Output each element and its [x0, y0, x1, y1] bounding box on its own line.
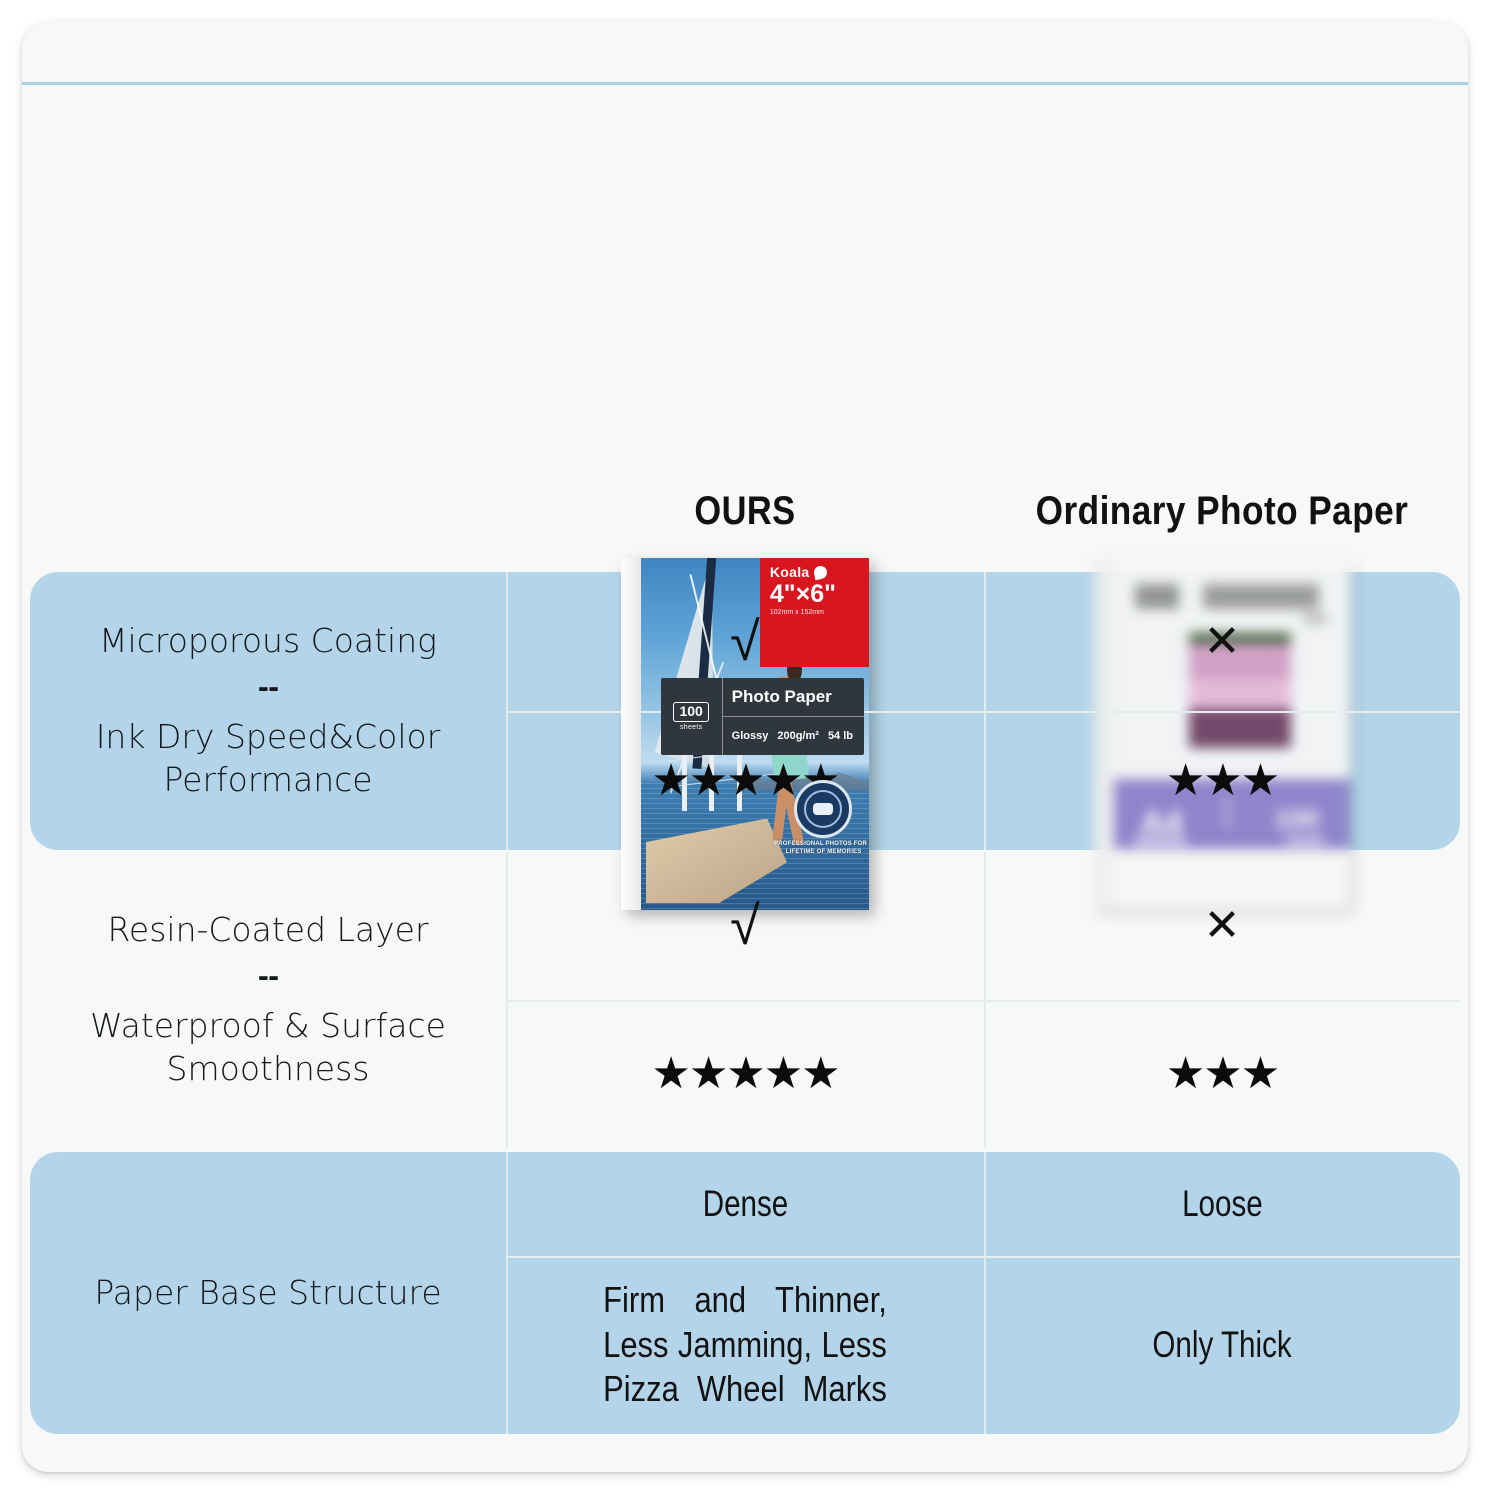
seal-core — [813, 803, 833, 815]
feature-separator: -- — [258, 673, 278, 704]
comparison-card: Koala 4"×6" 102mm x 152mm 100 sheets — [22, 22, 1468, 1472]
feature-label-text: Paper Base Structure — [30, 1152, 506, 1434]
product-specs: Glossy 200g/m² 54 lb — [723, 717, 864, 755]
package-size: 4"×6" — [770, 582, 861, 607]
column-divider-1 — [506, 1152, 508, 1434]
checkmark-icon: √ — [730, 899, 760, 953]
cross-icon: ✕ — [1204, 620, 1241, 664]
seal-inner-ring — [804, 790, 842, 828]
sub-row-divider — [506, 1000, 1460, 1002]
sheets-count: 100 — [673, 702, 708, 722]
gsm-spec: 200g/m² — [777, 730, 819, 742]
sub-row-divider — [506, 1256, 1460, 1258]
star-rating-icon: ★★★ — [1166, 759, 1278, 803]
cell-other-cross: ✕ — [984, 852, 1460, 1000]
density-value: Loose — [1182, 1181, 1263, 1226]
feature-line-2: Waterproof & Surface — [90, 1005, 446, 1048]
feature-line-3: Smoothness — [167, 1048, 370, 1091]
column-divider-2 — [984, 1152, 986, 1434]
row-ours-paper-base: Dense Firm and Thinner, Less Jamming, Le… — [506, 1152, 984, 1434]
feature-line-1: Paper Base Structure — [94, 1272, 441, 1315]
package-spine — [621, 558, 641, 910]
cell-other-detail: Only Thick — [984, 1256, 1460, 1434]
cross-icon: ✕ — [1204, 904, 1241, 948]
feature-line-1: Resin-Coated Layer — [107, 909, 428, 952]
comparison-table: Koala 4"×6" 102mm x 152mm 100 sheets — [30, 92, 1460, 1442]
brand-size-flag: Koala 4"×6" 102mm x 152mm — [760, 558, 869, 667]
cell-ours-density: Dense — [506, 1152, 984, 1256]
brand-name-row: Koala — [770, 564, 861, 580]
cell-ours-check: √ — [506, 852, 984, 1000]
feature-separator: -- — [258, 962, 278, 993]
quality-seal-icon: PROFESSIONAL PHOTOS FOR A LIFETIME OF ME… — [794, 780, 852, 838]
sub-row-divider — [506, 711, 1460, 713]
cell-ours-stars: ★★★★★ — [506, 1000, 984, 1148]
row-label-paper-base: Paper Base Structure — [30, 1152, 506, 1434]
cell-other-stars: ★★★ — [984, 711, 1460, 850]
finish-spec: Glossy — [732, 730, 769, 742]
product-type: Photo Paper — [723, 678, 864, 717]
cell-other-stars: ★★★ — [984, 1000, 1460, 1148]
row-label-microporous: Microporous Coating -- Ink Dry Speed&Col… — [30, 572, 506, 850]
cell-other-density: Loose — [984, 1152, 1460, 1256]
feature-label-text: Resin-Coated Layer -- Waterproof & Surfa… — [30, 852, 506, 1148]
comparison-infographic: Koala 4"×6" 102mm x 152mm 100 sheets — [0, 0, 1490, 1500]
koala-logo-icon — [812, 564, 827, 579]
detail-value: Only Thick — [1152, 1322, 1291, 1367]
checkmark-icon: √ — [730, 615, 760, 669]
density-value: Dense — [702, 1181, 788, 1226]
column-title-ours: OURS — [539, 489, 950, 534]
row-label-resin: Resin-Coated Layer -- Waterproof & Surfa… — [30, 852, 506, 1148]
star-rating-icon: ★★★★★ — [651, 1052, 838, 1096]
seal-text: PROFESSIONAL PHOTOS FOR A LIFETIME OF ME… — [760, 840, 869, 856]
table-header-row: Koala 4"×6" 102mm x 152mm 100 sheets — [30, 92, 1460, 550]
table-row: Resin-Coated Layer -- Waterproof & Surfa… — [30, 852, 1460, 1148]
lb-spec: 54 lb — [828, 730, 853, 742]
detail-value: Firm and Thinner, Less Jamming, Less Piz… — [603, 1278, 887, 1412]
cell-ours-detail: Firm and Thinner, Less Jamming, Less Piz… — [506, 1256, 984, 1434]
package-spec-block: Photo Paper Glossy 200g/m² 54 lb — [723, 678, 864, 755]
cell-other-cross: ✕ — [984, 572, 1460, 711]
feature-label-text: Microporous Coating -- Ink Dry Speed&Col… — [30, 572, 506, 850]
star-rating-icon: ★★★ — [1166, 1052, 1278, 1096]
feature-line-2: Ink Dry Speed&Color — [96, 716, 441, 759]
feature-line-3: Performance — [163, 759, 372, 802]
brand-name: Koala — [770, 564, 810, 580]
package-size-metric: 102mm x 152mm — [770, 609, 861, 616]
package-info-strip: 100 sheets Photo Paper Glossy 200g/m² 54… — [661, 678, 864, 755]
table-row: Paper Base Structure Dense Firm and Thin… — [30, 1152, 1460, 1434]
feature-line-1: Microporous Coating — [99, 620, 437, 663]
column-title-other: Ordinary Photo Paper — [1013, 489, 1432, 534]
row-other-paper-base: Loose Only Thick — [984, 1152, 1460, 1434]
sheets-box: 100 sheets — [661, 678, 723, 755]
accent-divider — [22, 82, 1468, 85]
sheets-label: sheets — [680, 724, 702, 731]
